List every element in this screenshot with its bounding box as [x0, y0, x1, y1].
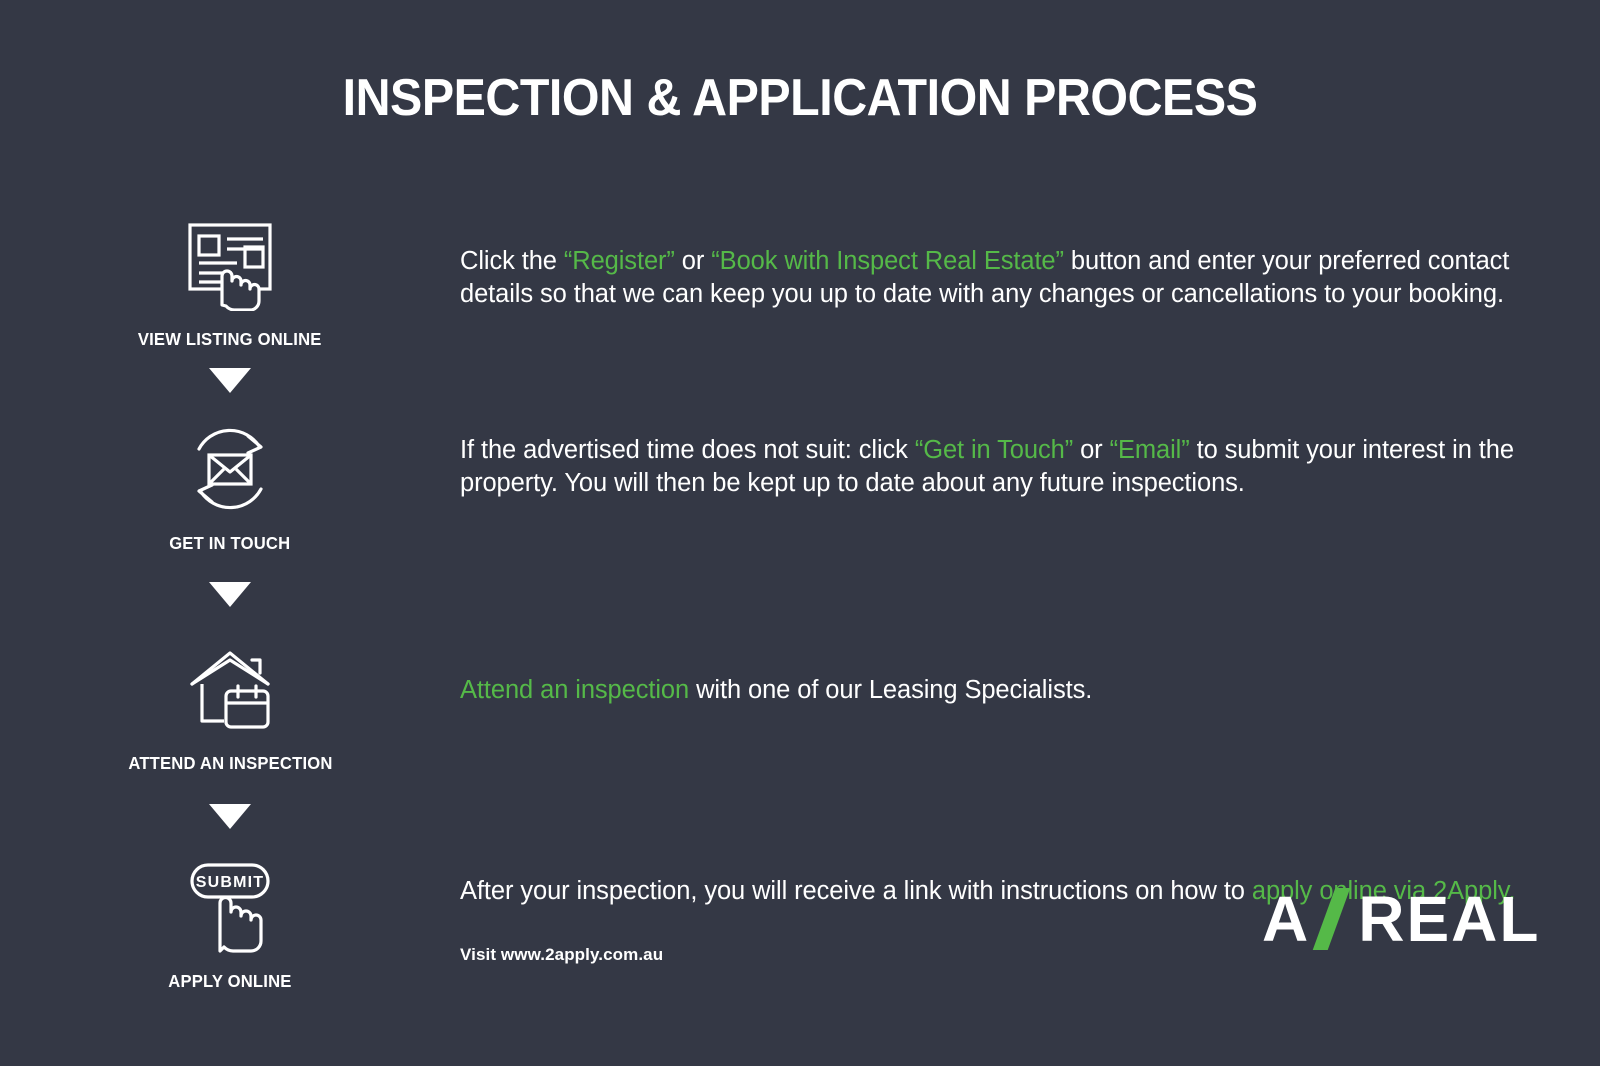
- step-4-text-part: After your inspection, you will receive …: [460, 877, 1252, 905]
- step-1-accent-book-with-ire: “Book with Inspect Real Estate”: [711, 247, 1064, 275]
- process-step-attend-an-inspection: ATTEND AN INSPECTION Attend an inspectio…: [0, 639, 1600, 774]
- submit-button-with-pointer-icon: SUBMIT: [175, 857, 285, 957]
- down-triangle-arrow-icon: [209, 368, 251, 393]
- step-3-accent-attend-an-inspection: Attend an inspection: [460, 676, 689, 704]
- house-calendar-icon: [175, 639, 285, 739]
- step-separator-2: [0, 582, 460, 607]
- step-3-label: ATTEND AN INSPECTION: [128, 753, 332, 774]
- step-1-label: VIEW LISTING ONLINE: [138, 329, 322, 350]
- process-step-get-in-touch: GET IN TOUCH If the advertised time does…: [0, 419, 1600, 554]
- down-triangle-arrow-icon: [209, 582, 251, 607]
- step-2-icon-column: GET IN TOUCH: [0, 419, 460, 554]
- step-1-description: Click the “Register” or “Book with Inspe…: [460, 215, 1600, 311]
- envelope-refresh-icon: [175, 419, 285, 519]
- step-4-icon-column: SUBMIT APPLY ONLINE: [0, 857, 460, 992]
- green-slash-icon: [1312, 888, 1356, 950]
- step-2-accent-email: “Email”: [1110, 436, 1190, 464]
- logo-text-real: REAL: [1358, 887, 1540, 951]
- step-1-accent-register: “Register”: [564, 247, 675, 275]
- step-separator-3: [0, 804, 460, 829]
- step-1-text-part: or: [675, 247, 711, 275]
- step-3-text-part: with one of our Leasing Specialists.: [689, 676, 1092, 704]
- a-real-logo: A REAL: [1262, 888, 1540, 950]
- step-2-description: If the advertised time does not suit: cl…: [460, 419, 1600, 500]
- logo-text-a: A: [1262, 887, 1310, 951]
- step-2-text-part: If the advertised time does not suit: cl…: [460, 436, 915, 464]
- step-4-label: APPLY ONLINE: [168, 971, 291, 992]
- step-1-icon-column: VIEW LISTING ONLINE: [0, 215, 460, 350]
- step-3-icon-column: ATTEND AN INSPECTION: [0, 639, 460, 774]
- process-step-view-listing-online: VIEW LISTING ONLINE Click the “Register”…: [0, 215, 1600, 350]
- listing-window-with-pointer-icon: [175, 215, 285, 315]
- step-2-text-part: or: [1073, 436, 1109, 464]
- step-1-text-part: Click the: [460, 247, 564, 275]
- step-separator-1: [0, 368, 460, 393]
- step-2-label: GET IN TOUCH: [169, 533, 290, 554]
- step-2-accent-get-in-touch: “Get in Touch”: [915, 436, 1073, 464]
- page-title: INSPECTION & APPLICATION PROCESS: [56, 68, 1544, 128]
- process-steps: VIEW LISTING ONLINE Click the “Register”…: [0, 215, 1600, 992]
- svg-text:SUBMIT: SUBMIT: [196, 874, 265, 891]
- down-triangle-arrow-icon: [209, 804, 251, 829]
- step-3-description: Attend an inspection with one of our Lea…: [460, 639, 1600, 707]
